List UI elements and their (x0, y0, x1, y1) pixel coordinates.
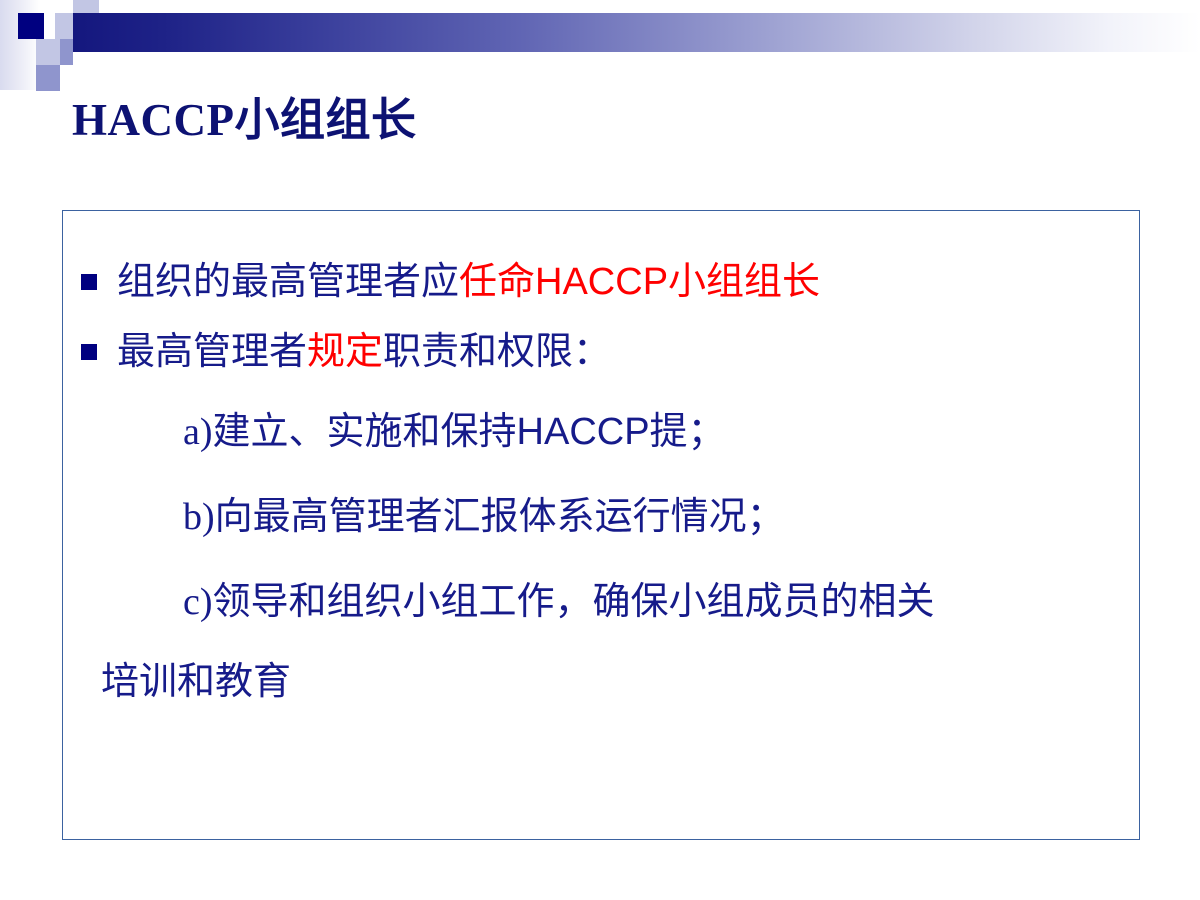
page-title: HACCP小组组长 (72, 92, 416, 148)
bullet-1-text: 组织的最高管理者应任命HACCP小组组长 (117, 263, 820, 301)
bullet-1-prefix: 组织的最高管理者应 (117, 261, 459, 303)
header-square-mid-2 (60, 39, 73, 65)
sub-item-b-label: b) (183, 496, 215, 538)
header-square-mid-3 (36, 65, 60, 91)
sub-item-c-text: 领导和组织小组工作，确保小组成员的相关 (213, 581, 935, 623)
sub-item-b: b)向最高管理者汇报体系运行情况； (183, 498, 785, 536)
sub-item-b-text: 向最高管理者汇报体系运行情况； (215, 496, 785, 538)
square-bullet-icon (81, 274, 97, 290)
sub-item-c-continuation: 培训和教育 (101, 663, 291, 701)
bullet-item-1: 组织的最高管理者应任命HACCP小组组长 (81, 263, 820, 301)
content-box: 组织的最高管理者应任命HACCP小组组长 最高管理者规定职责和权限： a)建立、… (62, 210, 1140, 840)
header-square-light-2 (55, 13, 73, 39)
bullet-2-prefix: 最高管理者 (117, 331, 307, 373)
header-square-light-3 (36, 39, 60, 65)
sub-item-a-label: a) (183, 411, 213, 453)
bullet-1-highlight: 任命HACCP小组组长 (459, 261, 820, 303)
header-square-navy-1 (18, 13, 44, 39)
header-square-light-1 (73, 0, 99, 13)
bullet-2-highlight: 规定 (307, 331, 383, 373)
bullet-2-suffix: 职责和权限： (383, 331, 611, 373)
sub-item-c-label: c) (183, 581, 213, 623)
bullet-item-2: 最高管理者规定职责和权限： (81, 333, 611, 371)
slide-header-decoration (0, 0, 1200, 90)
sub-item-c: c)领导和组织小组工作，确保小组成员的相关 (183, 583, 935, 621)
square-bullet-icon (81, 344, 97, 360)
sub-item-a: a)建立、实施和保持HACCP提； (183, 413, 726, 451)
sub-item-a-text: 建立、实施和保持HACCP提； (213, 411, 726, 453)
bullet-2-text: 最高管理者规定职责和权限： (117, 333, 611, 371)
header-gradient-bar (73, 13, 1200, 52)
